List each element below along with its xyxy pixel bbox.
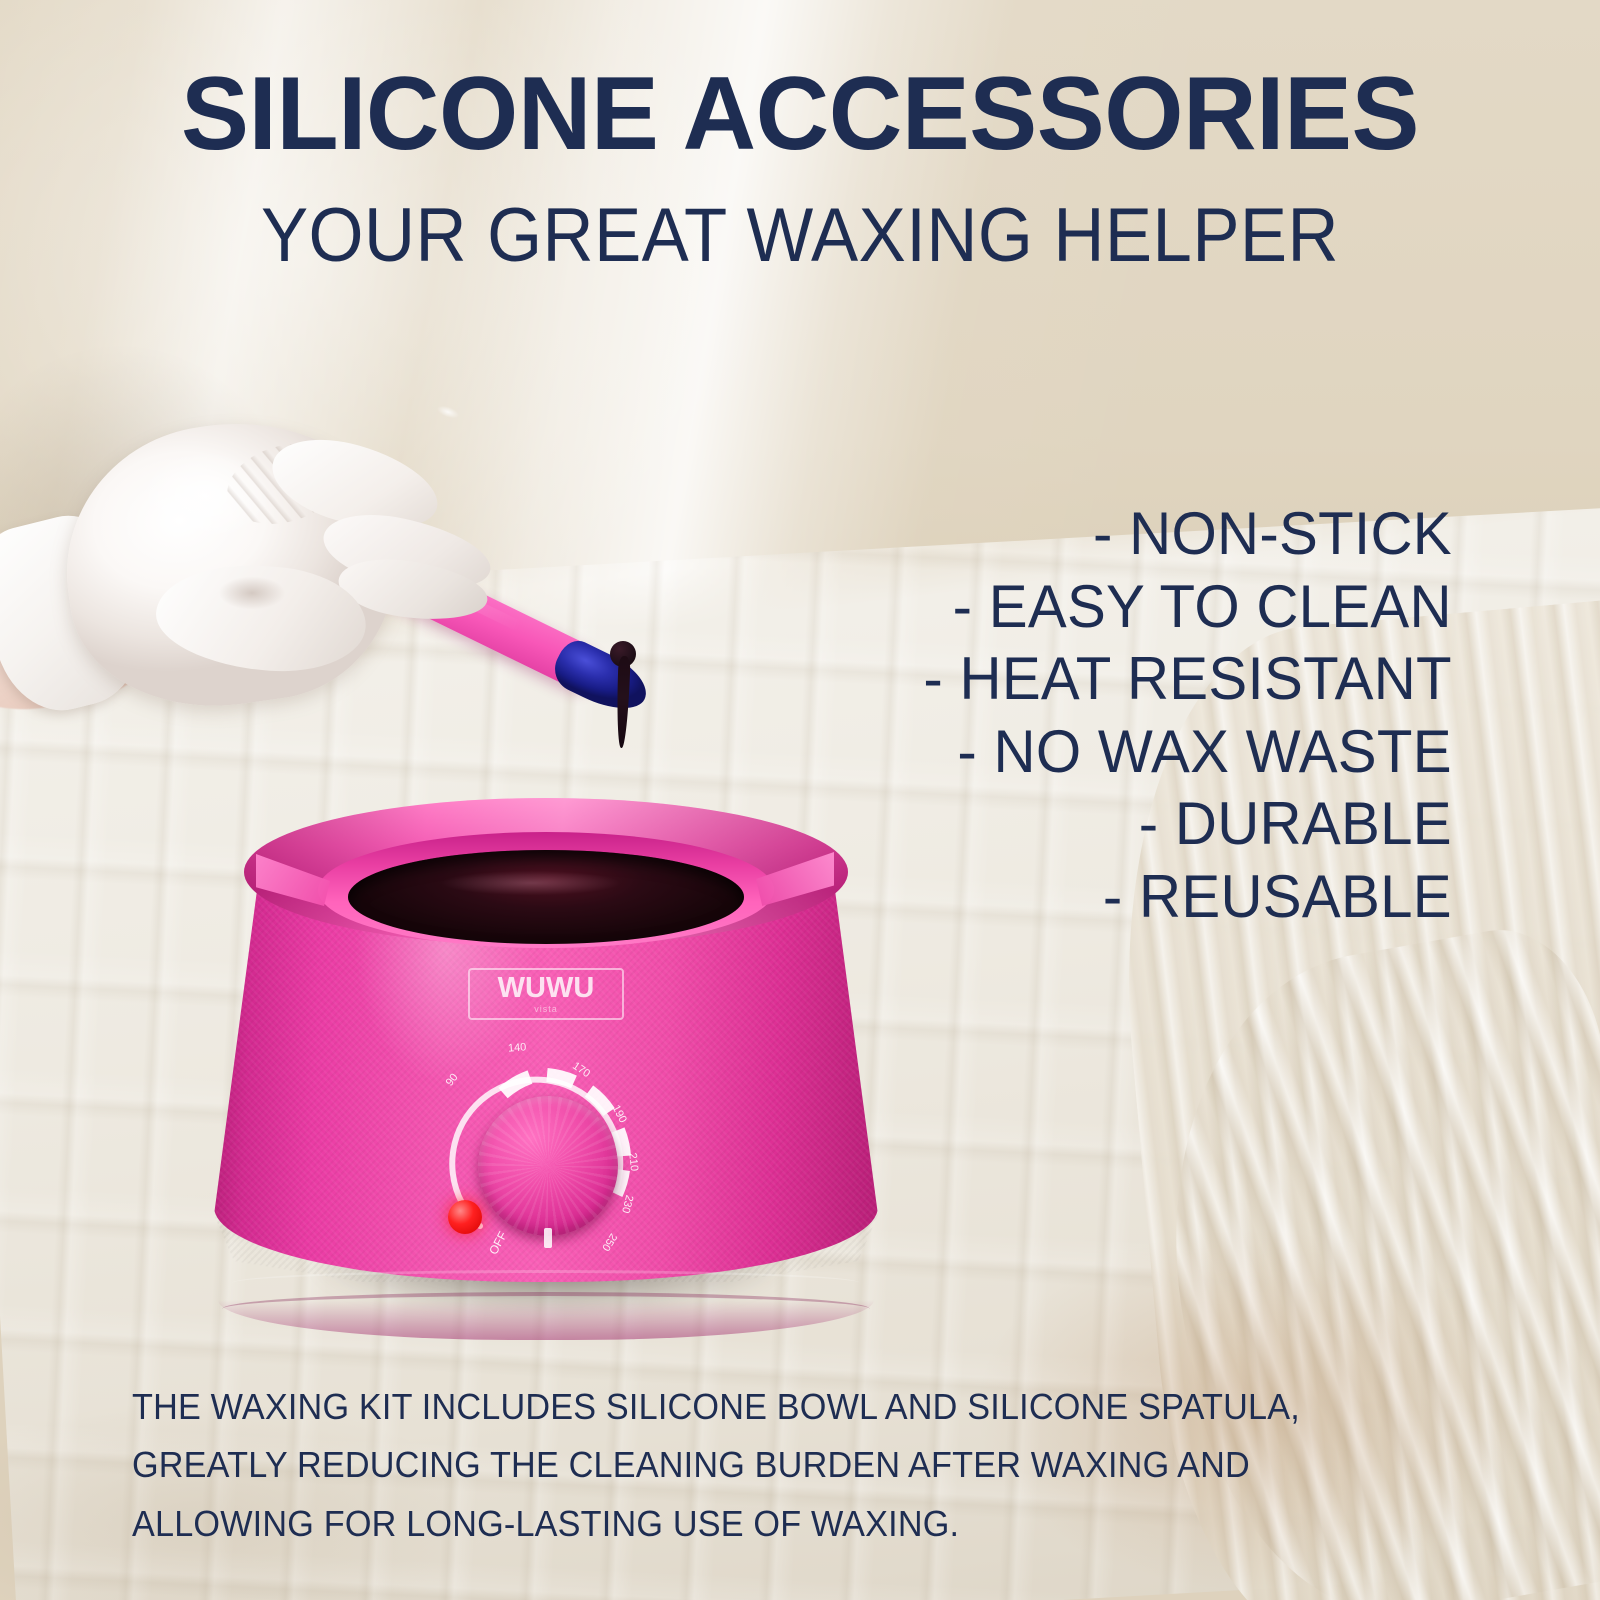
dial-tick-210: 210 [626, 1152, 640, 1172]
wax-drip-strand [615, 656, 630, 748]
feature-label: REUSABLE [1139, 863, 1452, 930]
feature-bullet: - [958, 718, 978, 785]
power-led-indicator [448, 1200, 482, 1234]
feature-label: EASY TO CLEAN [989, 573, 1452, 640]
feature-label: DURABLE [1175, 790, 1452, 857]
wax-surface-sheen [406, 866, 656, 900]
feature-item-reusable: - REUSABLE [923, 861, 1452, 934]
temperature-dial[interactable]: 140 170 190 210 230 250 90 OFF [432, 1048, 662, 1278]
dial-tick-140: 140 [508, 1041, 527, 1054]
dial-knob-grip-ridges [478, 1096, 618, 1236]
brand-name: WUWU [498, 974, 595, 1003]
feature-item-non-stick: - NON-STICK [923, 498, 1452, 571]
page-title: SILICONE ACCESSORIES [16, 62, 1584, 166]
feature-bullet: - [1139, 790, 1159, 857]
feature-bullet: - [923, 645, 943, 712]
glove-thumb-shadow [206, 570, 298, 616]
feature-label: NO WAX WASTE [994, 718, 1452, 785]
feature-bullet: - [1093, 500, 1113, 567]
feature-bullet: - [953, 573, 973, 640]
feature-item-no-wax-waste: - NO WAX WASTE [923, 716, 1452, 789]
feature-bullet: - [1103, 863, 1123, 930]
brand-subtext: vista [534, 1005, 558, 1014]
dial-pointer [544, 1228, 552, 1248]
feature-item-heat-resistant: - HEAT RESISTANT [923, 643, 1452, 716]
brand-logo: WUWU vista [468, 968, 624, 1020]
spatula-blue-tip [547, 635, 655, 722]
spatula-tip-highlight [431, 400, 466, 424]
dial-knob[interactable] [478, 1096, 618, 1236]
feature-item-durable: - DURABLE [923, 788, 1452, 861]
dial-tick-90: 90 [444, 1071, 461, 1088]
feature-list: - NON-STICK - EASY TO CLEAN - HEAT RESIS… [907, 498, 1452, 934]
feature-item-easy-to-clean: - EASY TO CLEAN [923, 571, 1452, 644]
wax-warmer-pot: WUWU vista 140 170 190 210 230 250 90 [196, 780, 896, 1340]
description-paragraph: THE WAXING KIT INCLUDES SILICONE BOWL AN… [132, 1378, 1396, 1553]
page-subtitle: YOUR GREAT WAXING HELPER [56, 198, 1544, 274]
gloved-hand-with-spatula [0, 398, 690, 858]
feature-label: NON-STICK [1129, 500, 1452, 567]
feature-label: HEAT RESISTANT [960, 645, 1452, 712]
